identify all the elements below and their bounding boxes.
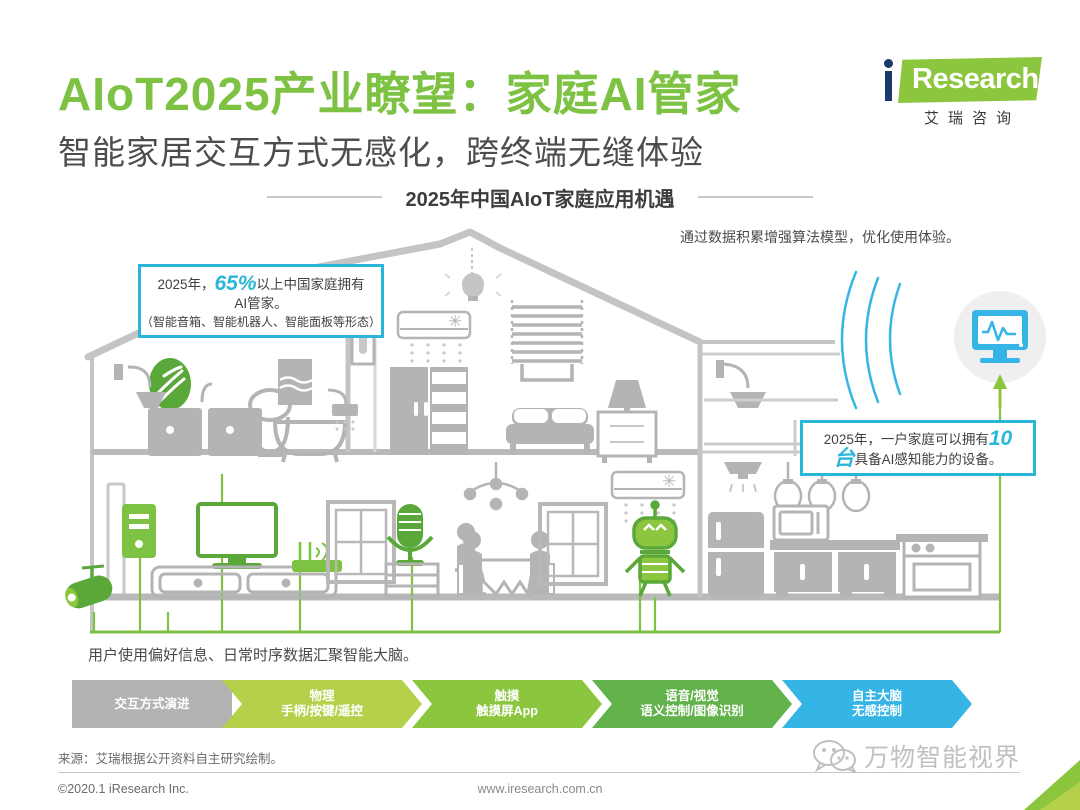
shower-head-icon [114, 364, 150, 387]
note-top-right: 通过数据积累增强算法模型，优化使用体验。 [680, 227, 960, 247]
pendant-lamp-icon [716, 360, 748, 388]
flow-step-label-line1: 物理 [309, 689, 334, 704]
flow-step-1[interactable]: 交互方式演进 [72, 680, 232, 728]
wardrobe-icon [390, 367, 468, 455]
flow-step-label-line2: 手柄/按键/遥控 [281, 704, 363, 719]
flow-step-label-line1: 交互方式演进 [114, 697, 189, 712]
callout-right-stat: 10 [989, 427, 1012, 450]
flow-step-label-line2: 触摸屏App [476, 704, 538, 719]
refrigerator-icon [706, 512, 766, 597]
robot-icon [626, 502, 684, 596]
flow-step-label-line1: 自主大脑 [852, 689, 902, 704]
callout-left-line3: （智能音箱、智能机器人、智能面板等形态） [141, 313, 381, 331]
wechat-icon [812, 739, 858, 773]
corner-decoration [990, 720, 1080, 810]
flow-step-2[interactable]: 物理手柄/按键/遥控 [222, 680, 422, 728]
callout-right: 2025年，一户家庭可以拥有10 台具备AI感知能力的设备。 [800, 420, 1036, 476]
interaction-evolution-flow: 交互方式演进物理手柄/按键/遥控触摸触摸屏App语音/视觉语义控制/图像识别自主… [72, 680, 1012, 728]
flow-step-label-line2: 无感控制 [852, 704, 902, 719]
callout-right-line2: 台具备AI感知能力的设备。 [803, 449, 1033, 469]
flow-step-3[interactable]: 触摸触摸屏App [412, 680, 602, 728]
window-blinds-icon [512, 300, 582, 380]
flow-step-4[interactable]: 语音/视觉语义控制/图像识别 [592, 680, 792, 728]
smoke-detector-icon [724, 462, 762, 492]
chandelier-icon [465, 462, 527, 509]
nightstand-icon [598, 412, 656, 463]
smart-panel-icon [122, 504, 156, 558]
flow-step-label-line1: 触摸 [494, 689, 519, 704]
section-rule-left [267, 196, 382, 198]
flow-step-5[interactable]: 自主大脑无感控制 [782, 680, 972, 728]
watermark: 万物智能视界 [812, 738, 1020, 774]
stove-icon [904, 540, 980, 597]
logo-chinese-name: 艾瑞咨询 [902, 107, 1042, 128]
bath-shower-icon [328, 390, 358, 416]
callout-right-line1: 2025年，一户家庭可以拥有10 [803, 429, 1033, 449]
bed-icon [506, 408, 594, 454]
page-title: AIoT2025产业瞭望：家庭AI管家 [58, 58, 742, 124]
callout-right-line2b: 具备AI感知能力的设备。 [855, 452, 1003, 467]
towel-icon [278, 359, 312, 405]
callout-right-line1a: 2025年，一户家庭可以拥有 [824, 432, 989, 447]
logo-i-stem-icon [885, 71, 892, 101]
callout-right-unit: 台 [834, 447, 855, 470]
callout-left: 2025年，65%以上中国家庭拥有 AI管家。 （智能音箱、智能机器人、智能面板… [138, 264, 384, 338]
callout-left-line2: AI管家。 [141, 294, 381, 313]
page-subtitle: 智能家居交互方式无感化，跨终端无缝体验 [58, 126, 704, 174]
source-note: 来源：艾瑞根据公开资料自主研究绘制。 [58, 748, 283, 767]
website-url: www.iresearch.com.cn [0, 782, 1080, 796]
note-bottom-left: 用户使用偏好信息、日常时序数据汇聚智能大脑。 [88, 644, 418, 665]
sink-icon [148, 408, 262, 456]
callout-left-line1b: 以上中国家庭拥有 [257, 277, 365, 292]
table-lamp-icon [608, 380, 646, 412]
callout-left-line1: 2025年，65%以上中国家庭拥有 [141, 274, 381, 294]
callout-left-stat: 65% [215, 272, 257, 295]
section-rule-right [698, 196, 813, 198]
section-title: 2025年中国AIoT家庭应用机遇 [406, 183, 675, 212]
television-icon [198, 504, 276, 569]
kitchen-cabinet-icon [770, 540, 900, 597]
logo-wordmark: Research [912, 63, 1039, 96]
section-header: 2025年中国AIoT家庭应用机遇 [0, 180, 1080, 214]
page-number: 7 [1040, 772, 1051, 795]
flow-step-label-line2: 语义控制/图像识别 [640, 704, 743, 719]
callout-left-line1a: 2025年， [157, 277, 214, 292]
flow-step-label-line1: 语音/视觉 [665, 689, 718, 704]
microwave-icon [774, 506, 828, 540]
slide-page: AIoT2025产业瞭望：家庭AI管家 智能家居交互方式无感化，跨终端无缝体验 … [0, 0, 1080, 810]
air-conditioner-icon [398, 312, 470, 363]
ceiling-bulb-icon [445, 248, 501, 301]
air-conditioner-lower-icon [612, 472, 684, 523]
dining-table-icon [478, 560, 534, 594]
iresearch-logo: Research 艾瑞咨询 [872, 55, 1042, 133]
wifi-router-icon [292, 542, 342, 572]
signal-waves-icon [842, 272, 900, 408]
logo-i-dot-icon [884, 59, 893, 68]
